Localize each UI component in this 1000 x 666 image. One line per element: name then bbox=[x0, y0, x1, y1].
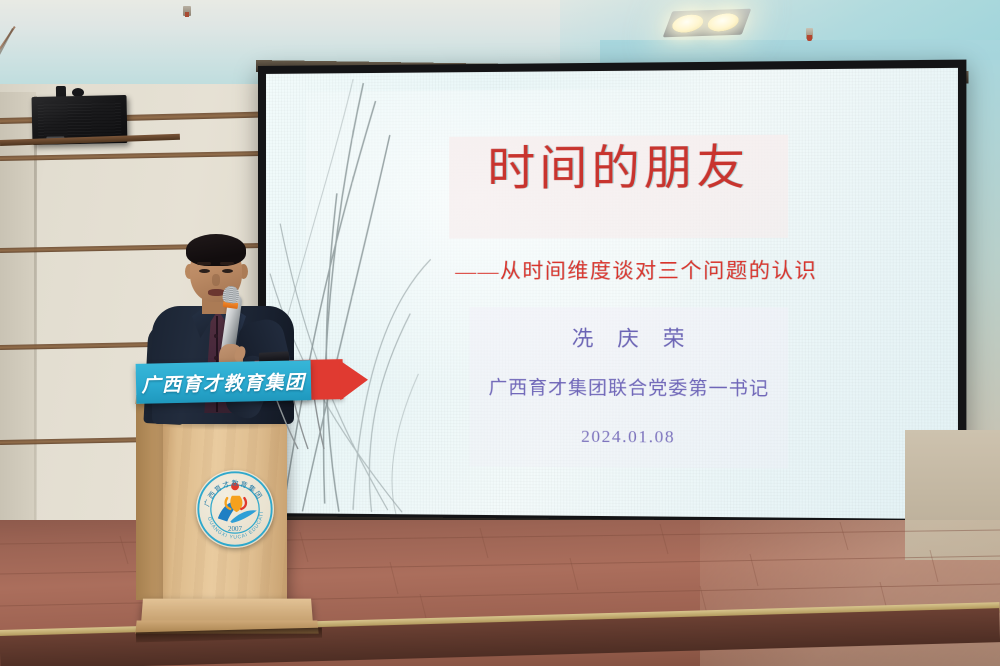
spotlight-lamp-right bbox=[705, 13, 742, 32]
presentation-photo-scene: 时间的朋友 ——从时间维度谈对三个问题的认识 冼 庆 荣 广西育才集团联合党委第… bbox=[0, 0, 1000, 666]
nose bbox=[212, 274, 220, 286]
podium-sign: 广西育才教育集团 bbox=[136, 360, 312, 404]
svg-text:2007: 2007 bbox=[228, 525, 243, 533]
emblem-graphic-icon: 广西育才教育集团 GUANGXI YUCAI EDUCATION 2007 bbox=[196, 470, 274, 548]
speaker-grille bbox=[38, 101, 122, 139]
slide-organization: 广西育才集团联合党委第一书记 bbox=[442, 373, 816, 401]
wall-corner-edge bbox=[34, 96, 37, 556]
shirt-button bbox=[214, 356, 218, 360]
eye-right bbox=[222, 269, 233, 273]
slide-author-name: 冼 庆 荣 bbox=[470, 322, 789, 353]
shirt-button bbox=[214, 334, 218, 338]
school-emblem: 广西育才教育集团 GUANGXI YUCAI EDUCATION 2007 bbox=[196, 470, 274, 548]
eyebrow-right bbox=[220, 262, 234, 265]
spotlight-lamp-left bbox=[669, 14, 706, 33]
sign-red-arrowhead bbox=[340, 360, 369, 401]
ceiling-spotlight-icon bbox=[663, 9, 752, 38]
projection-screen-frame: 时间的朋友 ——从时间维度谈对三个问题的认识 冼 庆 荣 广西育才集团联合党委第… bbox=[258, 60, 966, 528]
hair bbox=[186, 234, 246, 266]
eye-left bbox=[199, 269, 210, 273]
far-left-wall bbox=[0, 92, 36, 562]
slide-date: 2024.01.08 bbox=[470, 426, 789, 448]
slide-title: 时间的朋友 bbox=[459, 141, 778, 197]
podium-sign-text: 广西育才教育集团 bbox=[136, 360, 312, 404]
sprinkler-icon bbox=[806, 28, 813, 39]
podium-side-panel bbox=[136, 404, 164, 600]
sprinkler-icon-left bbox=[183, 6, 191, 16]
projection-screen: 时间的朋友 ——从时间维度谈对三个问题的认识 冼 庆 荣 广西育才集团联合党委第… bbox=[266, 68, 958, 519]
slide-subtitle: ——从时间维度谈对三个问题的认识 bbox=[422, 253, 852, 284]
eyebrow-left bbox=[197, 262, 211, 265]
